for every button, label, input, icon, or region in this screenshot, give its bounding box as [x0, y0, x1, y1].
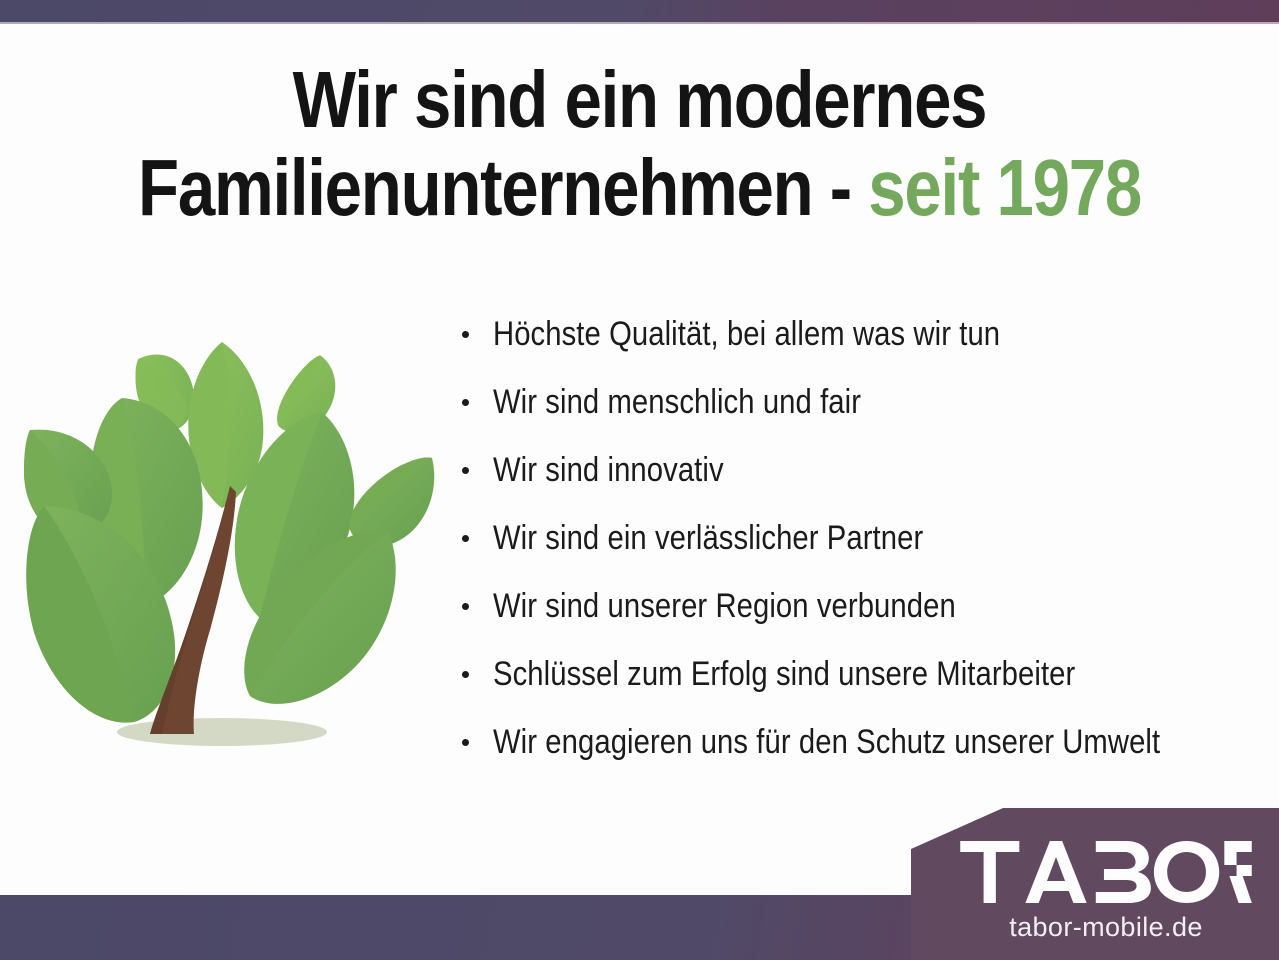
list-item: Schlüssel zum Erfolg sind unsere Mitarbe…: [458, 640, 1268, 708]
list-item-label: Schlüssel zum Erfolg sind unsere Mitarbe…: [493, 655, 1075, 693]
bullet-dot-icon: [462, 467, 469, 474]
bullet-dot-icon: [462, 535, 469, 542]
list-item-label: Wir sind menschlich und fair: [493, 383, 861, 421]
brand-wordmark: [960, 841, 1252, 905]
page-title: Wir sind ein modernes Familienunternehme…: [102, 56, 1176, 232]
tree-illustration: [22, 330, 442, 760]
list-item: Wir sind innovativ: [458, 436, 1268, 504]
tree-shadow: [117, 718, 327, 746]
page-title-line-2: Familienunternehmen - seit 1978: [102, 144, 1176, 232]
list-item-label: Wir engagieren uns für den Schutz unsere…: [493, 723, 1160, 761]
top-accent-bar-hairline: [0, 22, 1279, 24]
page-title-line-2-prefix: Familienunternehmen -: [138, 143, 868, 232]
bullet-dot-icon: [462, 603, 469, 610]
bullet-dot-icon: [462, 671, 469, 678]
page-title-accent: seit 1978: [868, 143, 1141, 232]
bullet-dot-icon: [462, 331, 469, 338]
brand-logo-inner: tabor-mobile.de: [911, 808, 1279, 960]
value-list: Höchste Qualität, bei allem was wir tun …: [458, 300, 1268, 776]
list-item: Höchste Qualität, bei allem was wir tun: [458, 300, 1268, 368]
list-item-label: Wir sind innovativ: [493, 451, 724, 489]
list-item-label: Wir sind ein verlässlicher Partner: [493, 519, 923, 557]
list-item: Wir sind ein verlässlicher Partner: [458, 504, 1268, 572]
bullet-dot-icon: [462, 739, 469, 746]
bullet-dot-icon: [462, 399, 469, 406]
slide-canvas: Wir sind ein modernes Familienunternehme…: [0, 0, 1279, 960]
top-accent-bar: [0, 0, 1279, 22]
list-item: Wir sind unserer Region verbunden: [458, 572, 1268, 640]
brand-domain-label: tabor-mobile.de: [1009, 912, 1203, 942]
brand-logo-plate[interactable]: tabor-mobile.de: [911, 808, 1279, 960]
page-title-line-1: Wir sind ein modernes: [102, 56, 1176, 144]
list-item-label: Höchste Qualität, bei allem was wir tun: [493, 315, 1000, 353]
list-item: Wir engagieren uns für den Schutz unsere…: [458, 708, 1268, 776]
list-item: Wir sind menschlich und fair: [458, 368, 1268, 436]
list-item-label: Wir sind unserer Region verbunden: [493, 587, 956, 625]
